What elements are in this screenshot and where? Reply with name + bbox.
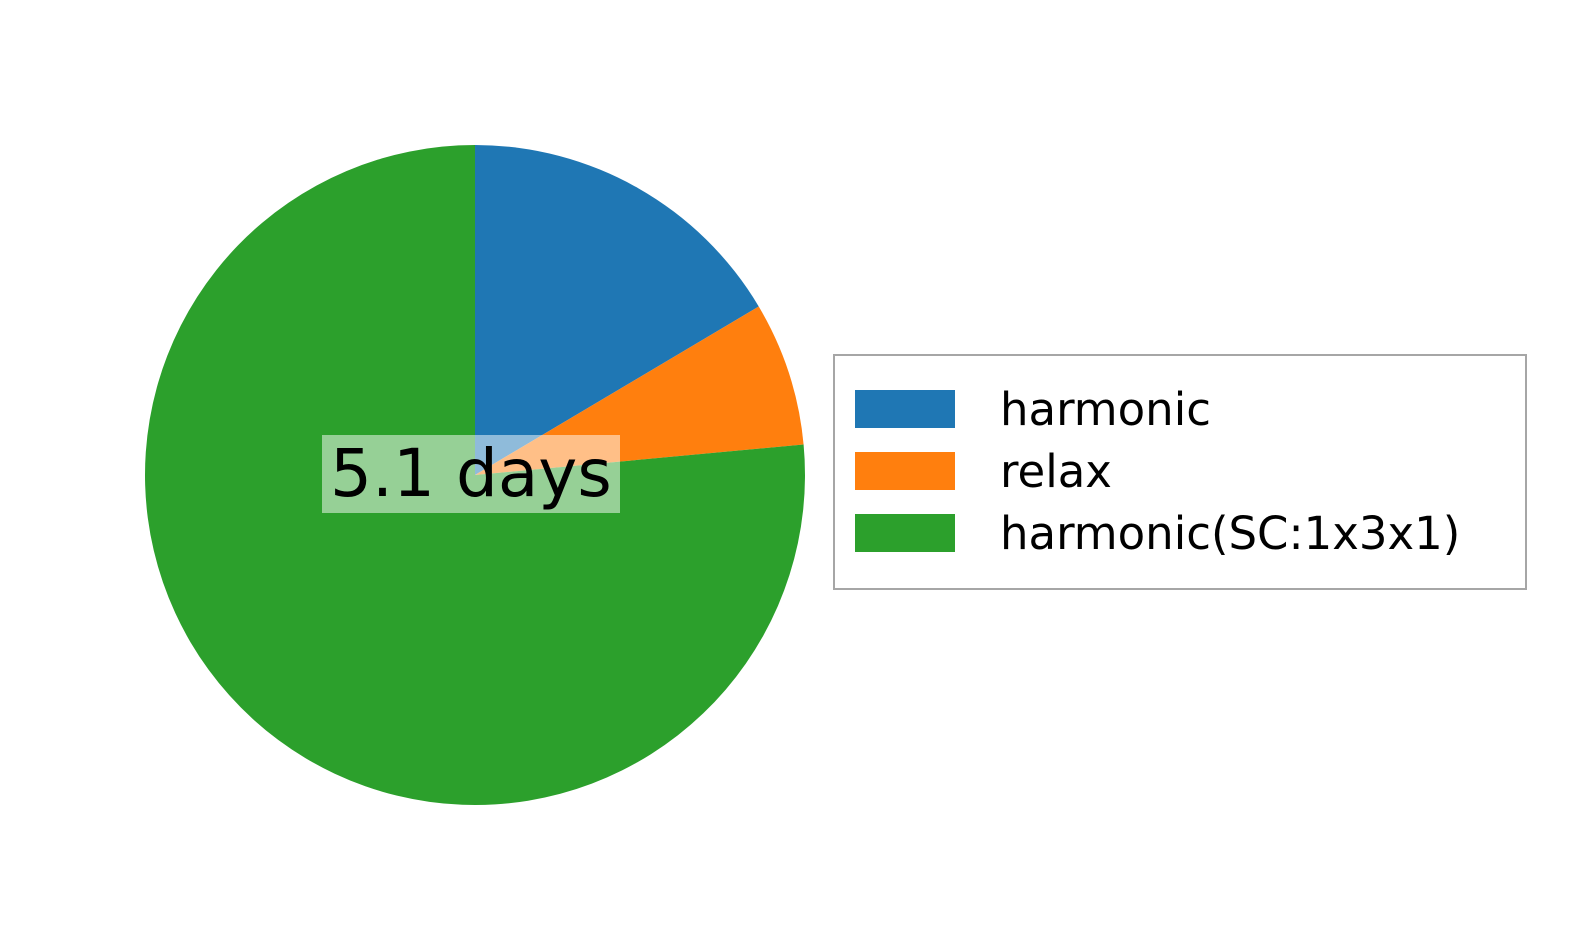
legend-swatch-relax — [855, 452, 955, 490]
legend-label-harmonic: harmonic — [1000, 387, 1211, 432]
legend-label-harmonic-sc: harmonic(SC:1x3x1) — [1000, 511, 1460, 556]
legend: harmonic relax harmonic(SC:1x3x1) — [833, 354, 1527, 590]
pie-center-label-box: 5.1 days — [322, 435, 620, 513]
figure-canvas: 5.1 days harmonic relax harmonic(SC:1x3x… — [0, 0, 1584, 951]
legend-swatch-harmonic-sc — [855, 514, 955, 552]
legend-item-harmonic-sc[interactable]: harmonic(SC:1x3x1) — [835, 502, 1525, 564]
pie-center-label: 5.1 days — [330, 441, 612, 507]
legend-item-harmonic[interactable]: harmonic — [835, 378, 1525, 440]
legend-item-relax[interactable]: relax — [835, 440, 1525, 502]
legend-label-relax: relax — [1000, 449, 1112, 494]
legend-swatch-harmonic — [855, 390, 955, 428]
